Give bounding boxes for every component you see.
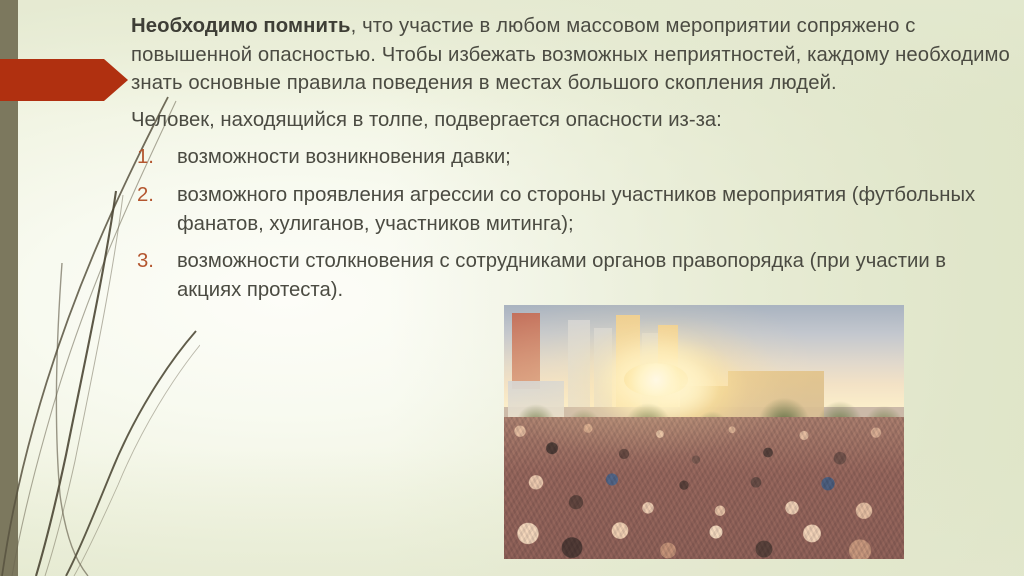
list-item-text: возможности столкновения с сотрудниками … [177, 250, 946, 301]
slide-canvas: Необходимо помнить, что участие в любом … [0, 0, 1024, 576]
paragraph-intro-lead: Необходимо помнить [131, 15, 351, 37]
list-item-marker: 3. [137, 247, 167, 276]
danger-list: 1. возможности возникновения давки; 2. в… [131, 143, 1015, 304]
list-item: 1. возможности возникновения давки; [131, 143, 1015, 172]
list-item-marker: 1. [137, 143, 167, 172]
crowd-photo [504, 305, 904, 559]
slide-content: Необходимо помнить, что участие в любом … [131, 12, 1015, 313]
list-item: 2. возможного проявления агрессии со сто… [131, 181, 1015, 238]
list-item: 3. возможности столкновения с сотрудника… [131, 247, 1015, 304]
paragraph-crowd-danger: Человек, находящийся в толпе, подвергает… [131, 106, 1015, 135]
list-item-marker: 2. [137, 181, 167, 210]
photo-building-red [512, 313, 540, 389]
photo-crowd-texture [504, 417, 904, 559]
paragraph-intro: Необходимо помнить, что участие в любом … [131, 12, 1015, 98]
list-item-text: возможного проявления агрессии со сторон… [177, 184, 975, 235]
red-arrow-banner [0, 59, 128, 101]
list-item-text: возможности возникновения давки; [177, 146, 511, 168]
